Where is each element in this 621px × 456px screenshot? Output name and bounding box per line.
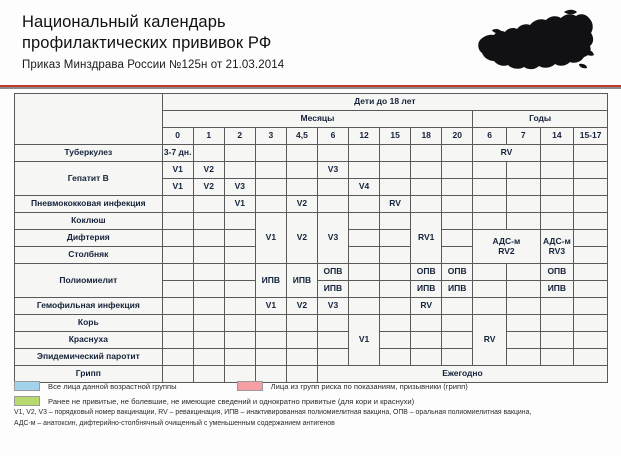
disease-label-polio: Полиомиелит [15, 264, 163, 298]
cell-hepb-risk-green-y1517 [574, 179, 608, 196]
cell-measles-green-y1517 [574, 315, 608, 332]
cell-pneumo-y7 [506, 196, 540, 213]
cell-tetanus-m1 [193, 247, 224, 264]
cell-rubella-m0 [162, 332, 193, 349]
cell-hepb-risk-v3-m2: V3 [224, 179, 255, 196]
cell-pertussis-y1517 [574, 213, 608, 230]
cell-tuberculosis-y1517 [574, 145, 608, 162]
cell-mumps-y1517 [574, 349, 608, 366]
cell-hepb-risk-m6 [317, 179, 348, 196]
ads-rv3-label: АДС-м [543, 236, 571, 246]
cell-rubella-m45 [286, 332, 317, 349]
cell-rubella-green-m18 [411, 332, 442, 349]
cell-polio-m12 [349, 264, 380, 281]
disease-label-tuberculosis: Туберкулез [15, 145, 163, 162]
cell-hib-m1 [193, 298, 224, 315]
disease-label-measles: Корь [15, 315, 163, 332]
cell-pneumo-m6 [317, 196, 348, 213]
vaccination-schedule-table: Дети до 18 лет Месяцы Годы 0 1 2 3 4,5 6… [14, 93, 608, 383]
cell-polio-y7 [506, 264, 540, 281]
cell-hepb-green-m12 [349, 162, 380, 179]
cell-hib-m12 [349, 298, 380, 315]
age-column-m2: 2 [224, 128, 255, 145]
age-column-m0: 0 [162, 128, 193, 145]
cell-flu-m1 [193, 366, 224, 383]
cell-rubella-m6 [317, 332, 348, 349]
cell-polio-risk-y7 [506, 281, 540, 298]
cell-hepb-v2-m1: V2 [193, 162, 224, 179]
cell-measles-green-m18 [411, 315, 442, 332]
cell-ads-rv2-y6-y7: АДС-м RV2 [473, 230, 540, 264]
cell-hib-m20 [442, 298, 473, 315]
table-row-mumps: Эпидемический паротит [15, 349, 608, 366]
cell-tuberculosis-m2 [224, 145, 255, 162]
footnote-abbreviations-line1: V1, V2, V3 – порядковый номер вакцинации… [14, 408, 614, 419]
cell-hib-m15 [380, 298, 411, 315]
age-column-m3: 3 [255, 128, 286, 145]
legend-label-previously-unvaccinated: Ранее не привитые, не болевшие, не имеющ… [48, 397, 414, 406]
cell-mmr-v1-m12: V1 [349, 315, 380, 366]
cell-hib-y7 [506, 298, 540, 315]
cell-mumps-m45 [286, 349, 317, 366]
table-row-pertussis: Коклюш V1 V2 V3 RV1 [15, 213, 608, 230]
cell-pneumo-y1517 [574, 196, 608, 213]
cell-measles-m6 [317, 315, 348, 332]
vaccination-calendar-page: Национальный календарь профилактических … [0, 0, 621, 456]
cell-mumps-y14 [540, 349, 574, 366]
title-block: Национальный календарь профилактических … [22, 12, 284, 71]
table-header-row-group: Дети до 18 лет [15, 94, 608, 111]
cell-flu-annual: Ежегодно [317, 366, 607, 383]
cell-mmr-rv-y6: RV [473, 315, 507, 366]
cell-hepb-risk-m45 [286, 179, 317, 196]
cell-diphtheria-m20 [442, 230, 473, 247]
cell-pneumo-y6 [473, 196, 507, 213]
cell-hepb-m3 [255, 162, 286, 179]
cell-tuberculosis-m15 [380, 145, 411, 162]
cell-mumps-m6 [317, 349, 348, 366]
legend-row-2: Ранее не привитые, не болевшие, не имеющ… [14, 396, 608, 406]
cell-mumps-m18 [411, 349, 442, 366]
cell-pertussis-m2 [224, 213, 255, 230]
cell-pertussis-m12 [349, 213, 380, 230]
cell-diphtheria-m12 [349, 230, 380, 247]
cell-tuberculosis-y14 [540, 145, 574, 162]
cell-pneumo-m3 [255, 196, 286, 213]
cell-measles-green-m15 [380, 315, 411, 332]
cell-mumps-m0 [162, 349, 193, 366]
cell-polio-opv-m18: ОПВ [411, 264, 442, 281]
cell-hepb-green-m20 [442, 162, 473, 179]
cell-tuberculosis-rv-y6-y7: RV [473, 145, 540, 162]
cell-hepb-v3-m6: V3 [317, 162, 348, 179]
disease-label-influenza: Грипп [15, 366, 163, 383]
cell-dtp-v2-m45: V2 [286, 213, 317, 264]
age-column-y1517: 15-17 [574, 128, 608, 145]
cell-polio-m1 [193, 264, 224, 281]
cell-polio-risk-ipv-y14: ИПВ [540, 281, 574, 298]
cell-rubella-m1 [193, 332, 224, 349]
cell-rubella-m3 [255, 332, 286, 349]
cell-tetanus-m15 [380, 247, 411, 264]
cell-polio-m15 [380, 264, 411, 281]
cell-tetanus-m2 [224, 247, 255, 264]
age-column-m6: 6 [317, 128, 348, 145]
cell-pneumo-m12 [349, 196, 380, 213]
age-column-m15: 15 [380, 128, 411, 145]
cell-pneumo-v2-m45: V2 [286, 196, 317, 213]
cell-pneumo-rv-m15: RV [380, 196, 411, 213]
cell-flu-m0 [162, 366, 193, 383]
cell-hepb-m45 [286, 162, 317, 179]
cell-mumps-m2 [224, 349, 255, 366]
cell-pertussis-m20 [442, 213, 473, 230]
cell-hib-v1-m3: V1 [255, 298, 286, 315]
table-row-haemophilus: Гемофильная инфекция V1 V2 V3 RV [15, 298, 608, 315]
cell-dtp-v1-m3: V1 [255, 213, 286, 264]
cell-flu-m45 [286, 366, 317, 383]
cell-measles-m2 [224, 315, 255, 332]
cell-rubella-green-m15 [380, 332, 411, 349]
cell-polio-m2 [224, 264, 255, 281]
cell-tuberculosis-m45 [286, 145, 317, 162]
cell-pertussis-m1 [193, 213, 224, 230]
cell-hepb-green-y7 [506, 162, 540, 179]
cell-measles-m3 [255, 315, 286, 332]
cell-hib-v3-m6: V3 [317, 298, 348, 315]
cell-diphtheria-m15 [380, 230, 411, 247]
table-row-influenza: Грипп Ежегодно [15, 366, 608, 383]
legend-label-all-ages: Все лица данной возрастной группы [48, 382, 177, 391]
cell-hepb-risk-v2-m1: V2 [193, 179, 224, 196]
header-rule-grey [0, 87, 621, 89]
cell-polio-opv-m20: ОПВ [442, 264, 473, 281]
cell-tuberculosis-m1 [193, 145, 224, 162]
cell-ads-rv3-y14: АДС-м RV3 [540, 230, 574, 264]
cell-diphtheria-m0 [162, 230, 193, 247]
calendar-table-wrap: Дети до 18 лет Месяцы Годы 0 1 2 3 4,5 6… [14, 93, 608, 383]
cell-tuberculosis-m6 [317, 145, 348, 162]
cell-polio-risk-y6 [473, 281, 507, 298]
legend: Все лица данной возрастной группы Лица и… [14, 381, 608, 411]
legend-swatch-blue-icon [14, 381, 40, 391]
cell-hepb-risk-v1-m0: V1 [162, 179, 193, 196]
cell-polio-risk-m0 [162, 281, 193, 298]
cell-tetanus-m20 [442, 247, 473, 264]
cell-mumps-m20 [442, 349, 473, 366]
age-column-y14: 14 [540, 128, 574, 145]
cell-hib-y14 [540, 298, 574, 315]
cell-pneumo-v1-m2: V1 [224, 196, 255, 213]
cell-polio-opv-m6: ОПВ [317, 264, 348, 281]
cell-measles-m45 [286, 315, 317, 332]
cell-polio-opv-y14: ОПВ [540, 264, 574, 281]
cell-polio-risk-m12 [349, 281, 380, 298]
disease-label-diphtheria: Дифтерия [15, 230, 163, 247]
table-row-hepatitis-b-blue: Гепатит В V1 V2 V3 [15, 162, 608, 179]
cell-hepb-risk-v4-m12: V4 [349, 179, 380, 196]
cell-tuberculosis-m12 [349, 145, 380, 162]
page-subtitle: Приказ Минздрава России №125н от 21.03.2… [22, 59, 284, 71]
cell-pneumo-m1 [193, 196, 224, 213]
age-column-y6: 6 [473, 128, 507, 145]
cell-polio-risk-m1 [193, 281, 224, 298]
cell-pneumo-y14 [540, 196, 574, 213]
cell-hib-y6 [473, 298, 507, 315]
cell-hepb-green-y1517 [574, 162, 608, 179]
cell-hepb-v1-m0: V1 [162, 162, 193, 179]
cell-measles-m0 [162, 315, 193, 332]
cell-pneumo-m20 [442, 196, 473, 213]
cell-rubella-green-m20 [442, 332, 473, 349]
cell-diphtheria-m1 [193, 230, 224, 247]
cell-pertussis-y6 [473, 213, 507, 230]
cell-hepb-green-m15 [380, 162, 411, 179]
cell-pertussis-y14 [540, 213, 574, 230]
cell-hepb-green-m18 [411, 162, 442, 179]
table-corner-cell [15, 94, 163, 145]
cell-hib-rv-m18: RV [411, 298, 442, 315]
ads-rv3-number: RV3 [549, 246, 565, 256]
cell-flu-m3 [255, 366, 286, 383]
page-title-line1: Национальный календарь [22, 12, 284, 33]
cell-hepb-green-y6 [473, 162, 507, 179]
cell-hib-m0 [162, 298, 193, 315]
page-title-line2: профилактических прививок РФ [22, 33, 284, 54]
legend-label-risk-groups: Лица из групп риска по показаниям, призы… [271, 382, 468, 391]
cell-polio-risk-y1517 [574, 281, 608, 298]
page-header: Национальный календарь профилактических … [0, 0, 621, 88]
group-header-all-children: Дети до 18 лет [162, 94, 607, 111]
cell-tuberculosis-m0: 3-7 дн. [162, 145, 193, 162]
cell-polio-risk-ipv-m6: ИПВ [317, 281, 348, 298]
cell-mumps-m15 [380, 349, 411, 366]
cell-hepb-risk-green-m15 [380, 179, 411, 196]
ads-rv2-number: RV2 [498, 246, 514, 256]
cell-tetanus-y1517 [574, 247, 608, 264]
cell-tuberculosis-m18 [411, 145, 442, 162]
table-row-pneumococcal: Пневмококковая инфекция V1 V2 RV [15, 196, 608, 213]
age-column-m1: 1 [193, 128, 224, 145]
cell-polio-risk-m2 [224, 281, 255, 298]
cell-dtp-v3-m6: V3 [317, 213, 348, 264]
table-row-polio-opv: Полиомиелит ИПВ ИПВ ОПВ ОПВ ОПВ ОПВ [15, 264, 608, 281]
legend-row-1: Все лица данной возрастной группы Лица и… [14, 381, 608, 391]
legend-swatch-pink-icon [237, 381, 263, 391]
cell-mumps-m3 [255, 349, 286, 366]
footnotes: V1, V2, V3 – порядковый номер вакцинации… [14, 408, 614, 429]
cell-hepb-risk-green-y14 [540, 179, 574, 196]
cell-pertussis-m0 [162, 213, 193, 230]
cell-hib-y1517 [574, 298, 608, 315]
cell-hepb-risk-green-y6 [473, 179, 507, 196]
cell-measles-green-y14 [540, 315, 574, 332]
cell-polio-y6 [473, 264, 507, 281]
disease-label-rubella: Краснуха [15, 332, 163, 349]
cell-polio-m0 [162, 264, 193, 281]
table-row-rubella: Краснуха [15, 332, 608, 349]
disease-label-hepatitis-b: Гепатит В [15, 162, 163, 196]
cell-rubella-green-y7 [506, 332, 540, 349]
table-row-measles: Корь V1 RV [15, 315, 608, 332]
disease-label-pneumococcal: Пневмококковая инфекция [15, 196, 163, 213]
russia-map-icon [464, 6, 599, 78]
age-column-m18: 18 [411, 128, 442, 145]
cell-pertussis-y7 [506, 213, 540, 230]
legend-swatch-green-icon [14, 396, 40, 406]
disease-label-haemophilus: Гемофильная инфекция [15, 298, 163, 315]
cell-pneumo-m0 [162, 196, 193, 213]
table-row-tuberculosis: Туберкулез 3-7 дн. RV [15, 145, 608, 162]
disease-label-tetanus: Столбняк [15, 247, 163, 264]
cell-pertussis-m15 [380, 213, 411, 230]
cell-hepb-m2 [224, 162, 255, 179]
age-column-y7: 7 [506, 128, 540, 145]
cell-hepb-risk-green-m20 [442, 179, 473, 196]
group-header-years: Годы [473, 111, 608, 128]
cell-hepb-green-y14 [540, 162, 574, 179]
age-column-m12: 12 [349, 128, 380, 145]
age-column-m20: 20 [442, 128, 473, 145]
cell-measles-green-y7 [506, 315, 540, 332]
cell-hib-v2-m45: V2 [286, 298, 317, 315]
cell-diphtheria-m2 [224, 230, 255, 247]
cell-hepb-risk-green-m18 [411, 179, 442, 196]
cell-diphtheria-y1517 [574, 230, 608, 247]
ads-rv2-label: АДС-м [493, 236, 521, 246]
cell-flu-m2 [224, 366, 255, 383]
age-column-m45: 4,5 [286, 128, 317, 145]
cell-measles-green-m20 [442, 315, 473, 332]
cell-hib-m2 [224, 298, 255, 315]
cell-polio-ipv-m45: ИПВ [286, 264, 317, 298]
cell-rubella-m2 [224, 332, 255, 349]
cell-mumps-m1 [193, 349, 224, 366]
legend-group-risk: Лица из групп риска по показаниям, призы… [237, 381, 468, 391]
disease-label-pertussis: Коклюш [15, 213, 163, 230]
cell-polio-risk-ipv-m18: ИПВ [411, 281, 442, 298]
cell-hepb-risk-green-y7 [506, 179, 540, 196]
disease-label-mumps: Эпидемический паротит [15, 349, 163, 366]
cell-tetanus-m0 [162, 247, 193, 264]
cell-tuberculosis-m3 [255, 145, 286, 162]
cell-rubella-green-y14 [540, 332, 574, 349]
cell-polio-risk-ipv-m20: ИПВ [442, 281, 473, 298]
cell-polio-ipv-m3: ИПВ [255, 264, 286, 298]
footnote-abbreviations-line2: АДС-м – анатоксин, дифтерийно-столбнячны… [14, 419, 614, 430]
cell-pneumo-m18 [411, 196, 442, 213]
cell-tuberculosis-m20 [442, 145, 473, 162]
cell-dtp-rv1-m18: RV1 [411, 213, 442, 264]
cell-tetanus-m12 [349, 247, 380, 264]
cell-mumps-y7 [506, 349, 540, 366]
cell-polio-y1517 [574, 264, 608, 281]
cell-measles-m1 [193, 315, 224, 332]
cell-hepb-risk-m3 [255, 179, 286, 196]
group-header-months: Месяцы [162, 111, 473, 128]
cell-polio-risk-m15 [380, 281, 411, 298]
cell-rubella-green-y1517 [574, 332, 608, 349]
